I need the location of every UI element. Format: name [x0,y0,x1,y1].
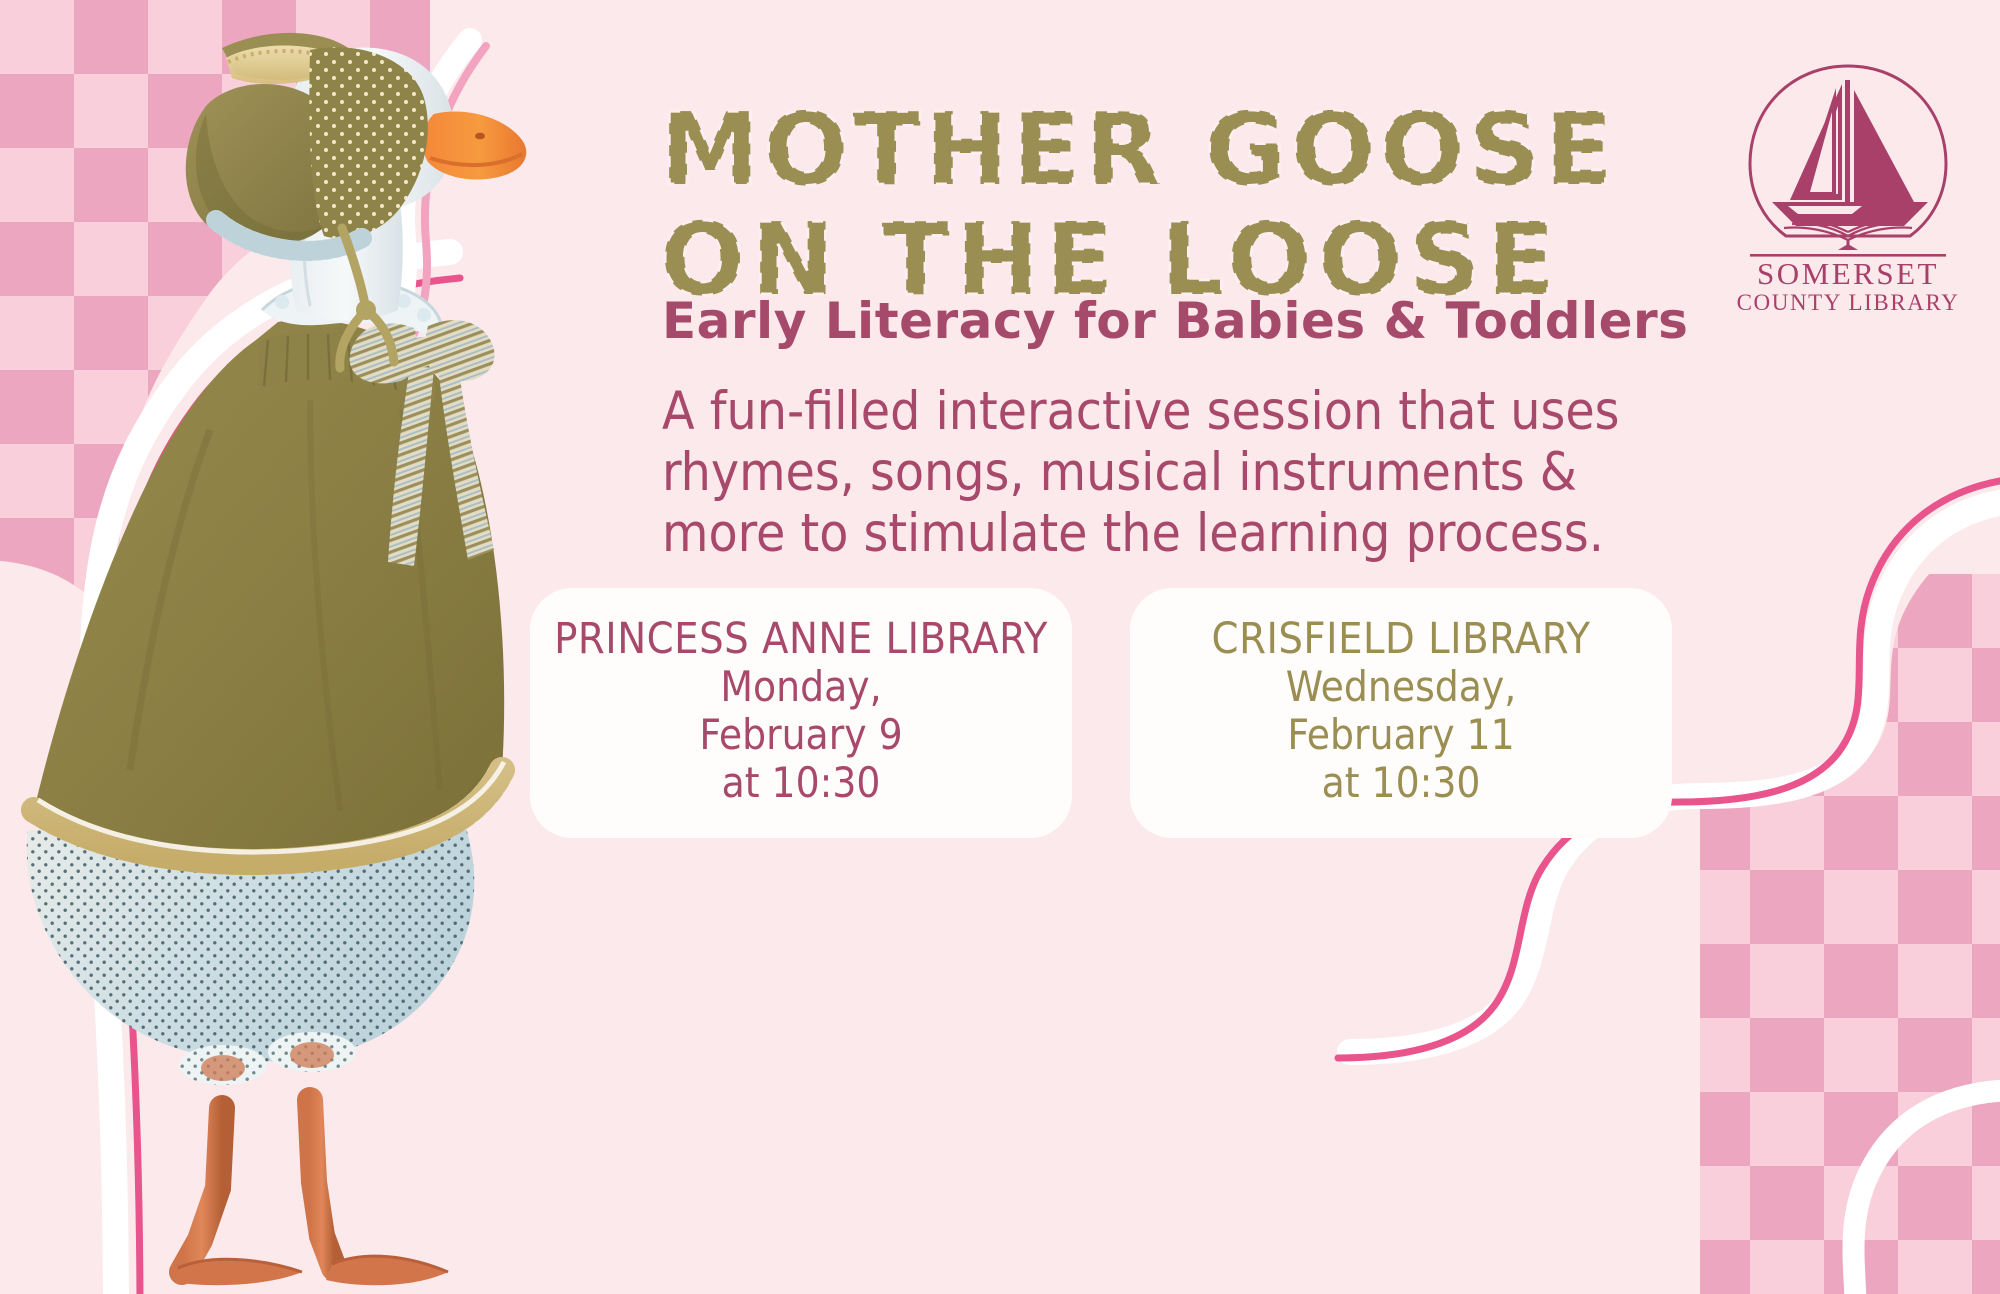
logo-name: SOMERSET [1732,258,1964,290]
body-line-3: more to stimulate the learning process. [662,504,1542,565]
somerset-county-library-logo[interactable]: SOMERSET COUNTY LIBRARY [1732,54,1964,315]
event-date: February 9 [699,711,902,759]
logo-subname: COUNTY LIBRARY [1732,290,1964,315]
event-day: Wednesday, [1286,663,1517,711]
body-line-1: A fun-filled interactive session that us… [662,382,1542,443]
event-cards: PRINCESS ANNE LIBRARY Monday, February 9… [530,588,1930,838]
event-date: February 11 [1287,711,1514,759]
event-venue: CRISFIELD LIBRARY [1212,615,1591,663]
event-time: at 10:30 [722,759,881,807]
poster-canvas: MOTHER GOOSE MOTHER GOOSE ON THE LOOSE O… [0,0,2000,1294]
goose-cloak [34,319,504,862]
body-line-2: rhymes, songs, musical instruments & [662,443,1542,504]
poster-subtitle: Early Literacy for Babies & Toddlers [662,292,1688,350]
title-line-1-stitch: MOTHER GOOSE [660,91,1617,208]
event-time: at 10:30 [1322,759,1481,807]
goose-legs [174,1100,448,1285]
poster-body-copy: A fun-filled interactive session that us… [662,382,1542,565]
sailboat-over-open-book-icon [1732,54,1964,262]
event-card-crisfield[interactable]: CRISFIELD LIBRARY Wednesday, February 11… [1130,588,1672,838]
event-venue: PRINCESS ANNE LIBRARY [554,615,1048,663]
mother-goose-illustration [10,10,530,1294]
event-day: Monday, [720,663,881,711]
event-card-princess-anne[interactable]: PRINCESS ANNE LIBRARY Monday, February 9… [530,588,1072,838]
